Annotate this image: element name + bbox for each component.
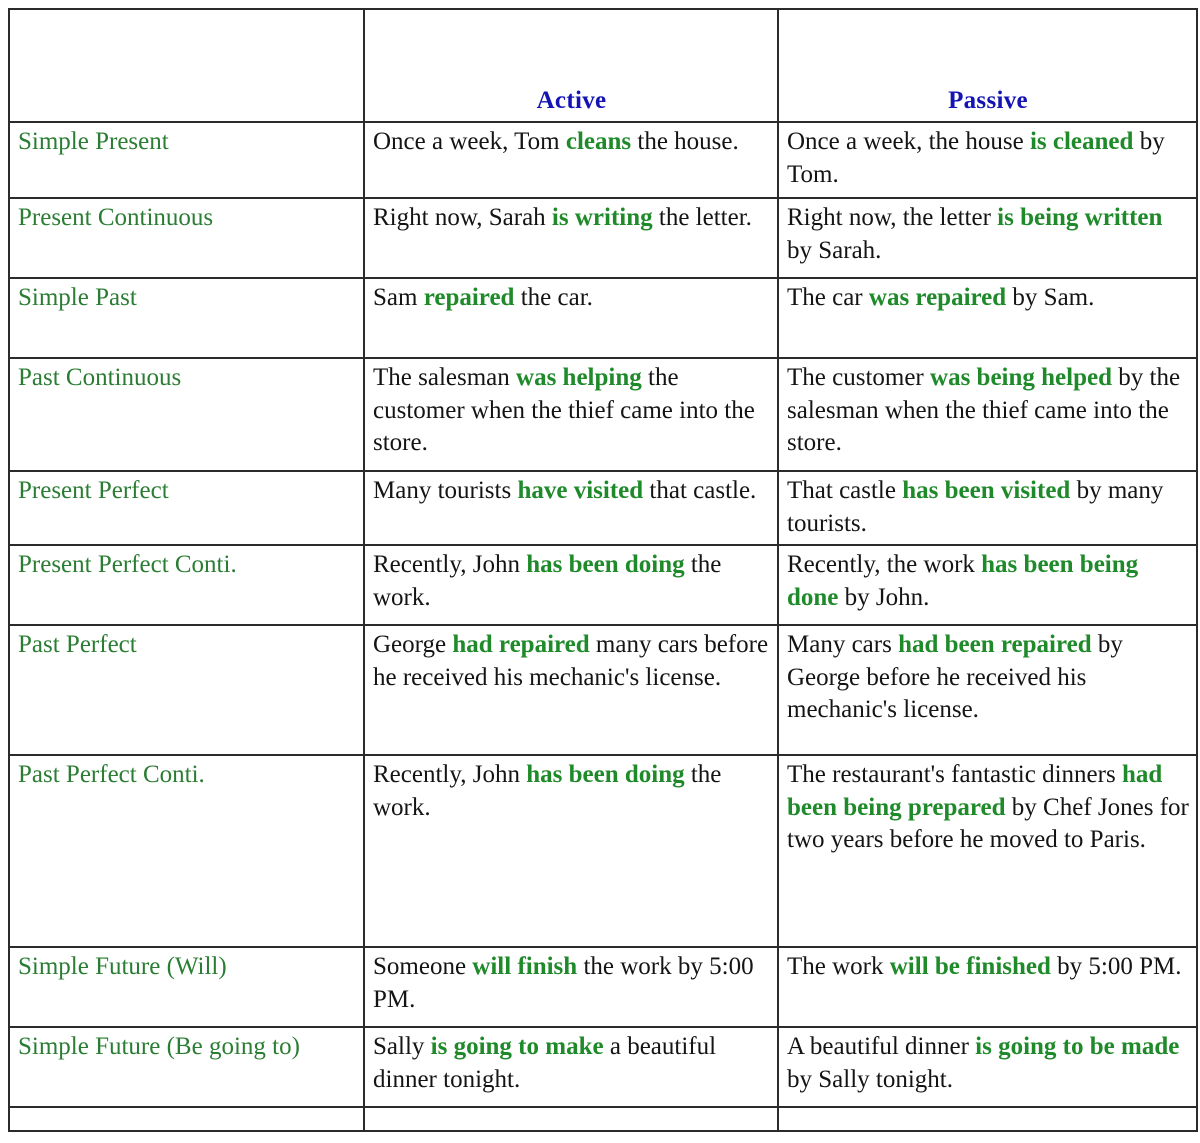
sentence-text: The restaurant's fantastic dinners [787,761,1122,788]
sentence-text: that castle. [643,477,756,504]
table-row: Present Perfect Conti.Recently, John has… [9,545,1197,625]
active-sentence-cell: Right now, Sarah is writing the letter. [364,198,778,278]
passive-sentence-cell: The work will be finished by 5:00 PM. [778,947,1197,1027]
highlighted-verb: had been repaired [898,631,1092,658]
tense-label-cell: Simple Past [9,278,364,358]
active-sentence-cell: Recently, John has been doing the work. [364,545,778,625]
active-sentence-cell: Sally is going to make a beautiful dinne… [364,1027,778,1107]
tense-label-cell: Present Perfect Conti. [9,545,364,625]
tense-label-cell: Simple Future (Will) [9,947,364,1027]
sentence-text: Many tourists [373,477,517,504]
highlighted-verb: cleans [566,128,631,155]
highlighted-verb: is going to be made [975,1033,1179,1060]
highlighted-verb: was helping [516,364,642,391]
highlighted-verb: will finish [472,953,577,980]
tense-label-cell: Past Continuous [9,358,364,471]
sentence-text: The work [787,953,890,980]
sentence-text: Someone [373,953,472,980]
sentence-text: by Sally tonight. [787,1066,953,1093]
highlighted-verb: has been doing [526,551,684,578]
table-row: Past ContinuousThe salesman was helping … [9,358,1197,471]
highlighted-verb: has been doing [526,761,684,788]
highlighted-verb: was being helped [930,364,1112,391]
sentence-text: Recently, John [373,761,526,788]
sentence-text: Right now, the letter [787,204,997,231]
table-row: Present ContinuousRight now, Sarah is wr… [9,198,1197,278]
highlighted-verb: is going to make [431,1033,604,1060]
column-header-active: Active [364,9,778,122]
sentence-text: Once a week, the house [787,128,1030,155]
sentence-text: the car. [514,284,592,311]
active-sentence-cell: Sam repaired the car. [364,278,778,358]
passive-sentence-cell: A beautiful dinner is going to be made b… [778,1027,1197,1107]
sentence-text: the house. [631,128,739,155]
passive-sentence-cell: Recently, the work has been being done b… [778,545,1197,625]
tense-label-cell: Simple Future (Be going to) [9,1027,364,1107]
tense-label-cell: Simple Present [9,122,364,198]
active-sentence-cell: The salesman was helping the customer wh… [364,358,778,471]
sentence-text: Sam [373,284,424,311]
clipped-cell [778,1107,1197,1131]
highlighted-verb: repaired [424,284,515,311]
highlighted-verb: is cleaned [1030,128,1133,155]
sentence-text: Recently, the work [787,551,981,578]
table-row: Present PerfectMany tourists have visite… [9,471,1197,545]
sentence-text: Sally [373,1033,431,1060]
sentence-text: the letter. [653,204,752,231]
active-sentence-cell: Recently, John has been doing the work. [364,755,778,947]
highlighted-verb: has been visited [902,477,1070,504]
tense-comparison-table: ActivePassiveSimple PresentOnce a week, … [8,8,1198,1132]
active-sentence-cell: George had repaired many cars before he … [364,625,778,755]
active-sentence-cell: Once a week, Tom cleans the house. [364,122,778,198]
highlighted-verb: had repaired [452,631,589,658]
passive-sentence-cell: That castle has been visited by many tou… [778,471,1197,545]
table-row: Simple PastSam repaired the car.The car … [9,278,1197,358]
highlighted-verb: is writing [552,204,653,231]
passive-sentence-cell: The car was repaired by Sam. [778,278,1197,358]
tense-label-cell: Present Continuous [9,198,364,278]
passive-sentence-cell: Many cars had been repaired by George be… [778,625,1197,755]
table-row: Simple Future (Will)Someone will finish … [9,947,1197,1027]
clipped-next-row [9,1107,1197,1131]
passive-sentence-cell: The customer was being helped by the sal… [778,358,1197,471]
clipped-cell [364,1107,778,1131]
sentence-text: Right now, Sarah [373,204,552,231]
sentence-text: Recently, John [373,551,526,578]
sentence-text: George [373,631,452,658]
highlighted-verb: was repaired [869,284,1006,311]
sentence-text: The salesman [373,364,516,391]
passive-sentence-cell: The restaurant's fantastic dinners had b… [778,755,1197,947]
sentence-text: The car [787,284,869,311]
table-body: ActivePassiveSimple PresentOnce a week, … [9,9,1197,1131]
table-row: Simple PresentOnce a week, Tom cleans th… [9,122,1197,198]
header-corner-cell [9,9,364,122]
table-row: Past Perfect Conti.Recently, John has be… [9,755,1197,947]
active-sentence-cell: Many tourists have visited that castle. [364,471,778,545]
table-header-row: ActivePassive [9,9,1197,122]
sentence-text: That castle [787,477,902,504]
highlighted-verb: is being written [997,204,1162,231]
active-passive-voice-chart: ActivePassiveSimple PresentOnce a week, … [0,8,1200,1143]
active-sentence-cell: Someone will finish the work by 5:00 PM. [364,947,778,1027]
tense-label-cell: Past Perfect Conti. [9,755,364,947]
passive-sentence-cell: Once a week, the house is cleaned by Tom… [778,122,1197,198]
sentence-text: Many cars [787,631,898,658]
column-header-passive: Passive [778,9,1197,122]
sentence-text: by John. [838,584,929,611]
passive-sentence-cell: Right now, the letter is being written b… [778,198,1197,278]
sentence-text: by 5:00 PM. [1051,953,1182,980]
highlighted-verb: will be finished [890,953,1051,980]
sentence-text: A beautiful dinner [787,1033,975,1060]
highlighted-verb: have visited [517,477,643,504]
sentence-text: The customer [787,364,930,391]
tense-label-cell: Past Perfect [9,625,364,755]
sentence-text: Once a week, Tom [373,128,566,155]
table-row: Past PerfectGeorge had repaired many car… [9,625,1197,755]
clipped-cell [9,1107,364,1131]
table-row: Simple Future (Be going to)Sally is goin… [9,1027,1197,1107]
tense-label-cell: Present Perfect [9,471,364,545]
sentence-text: by Sam. [1006,284,1094,311]
sentence-text: by Sarah. [787,237,881,264]
